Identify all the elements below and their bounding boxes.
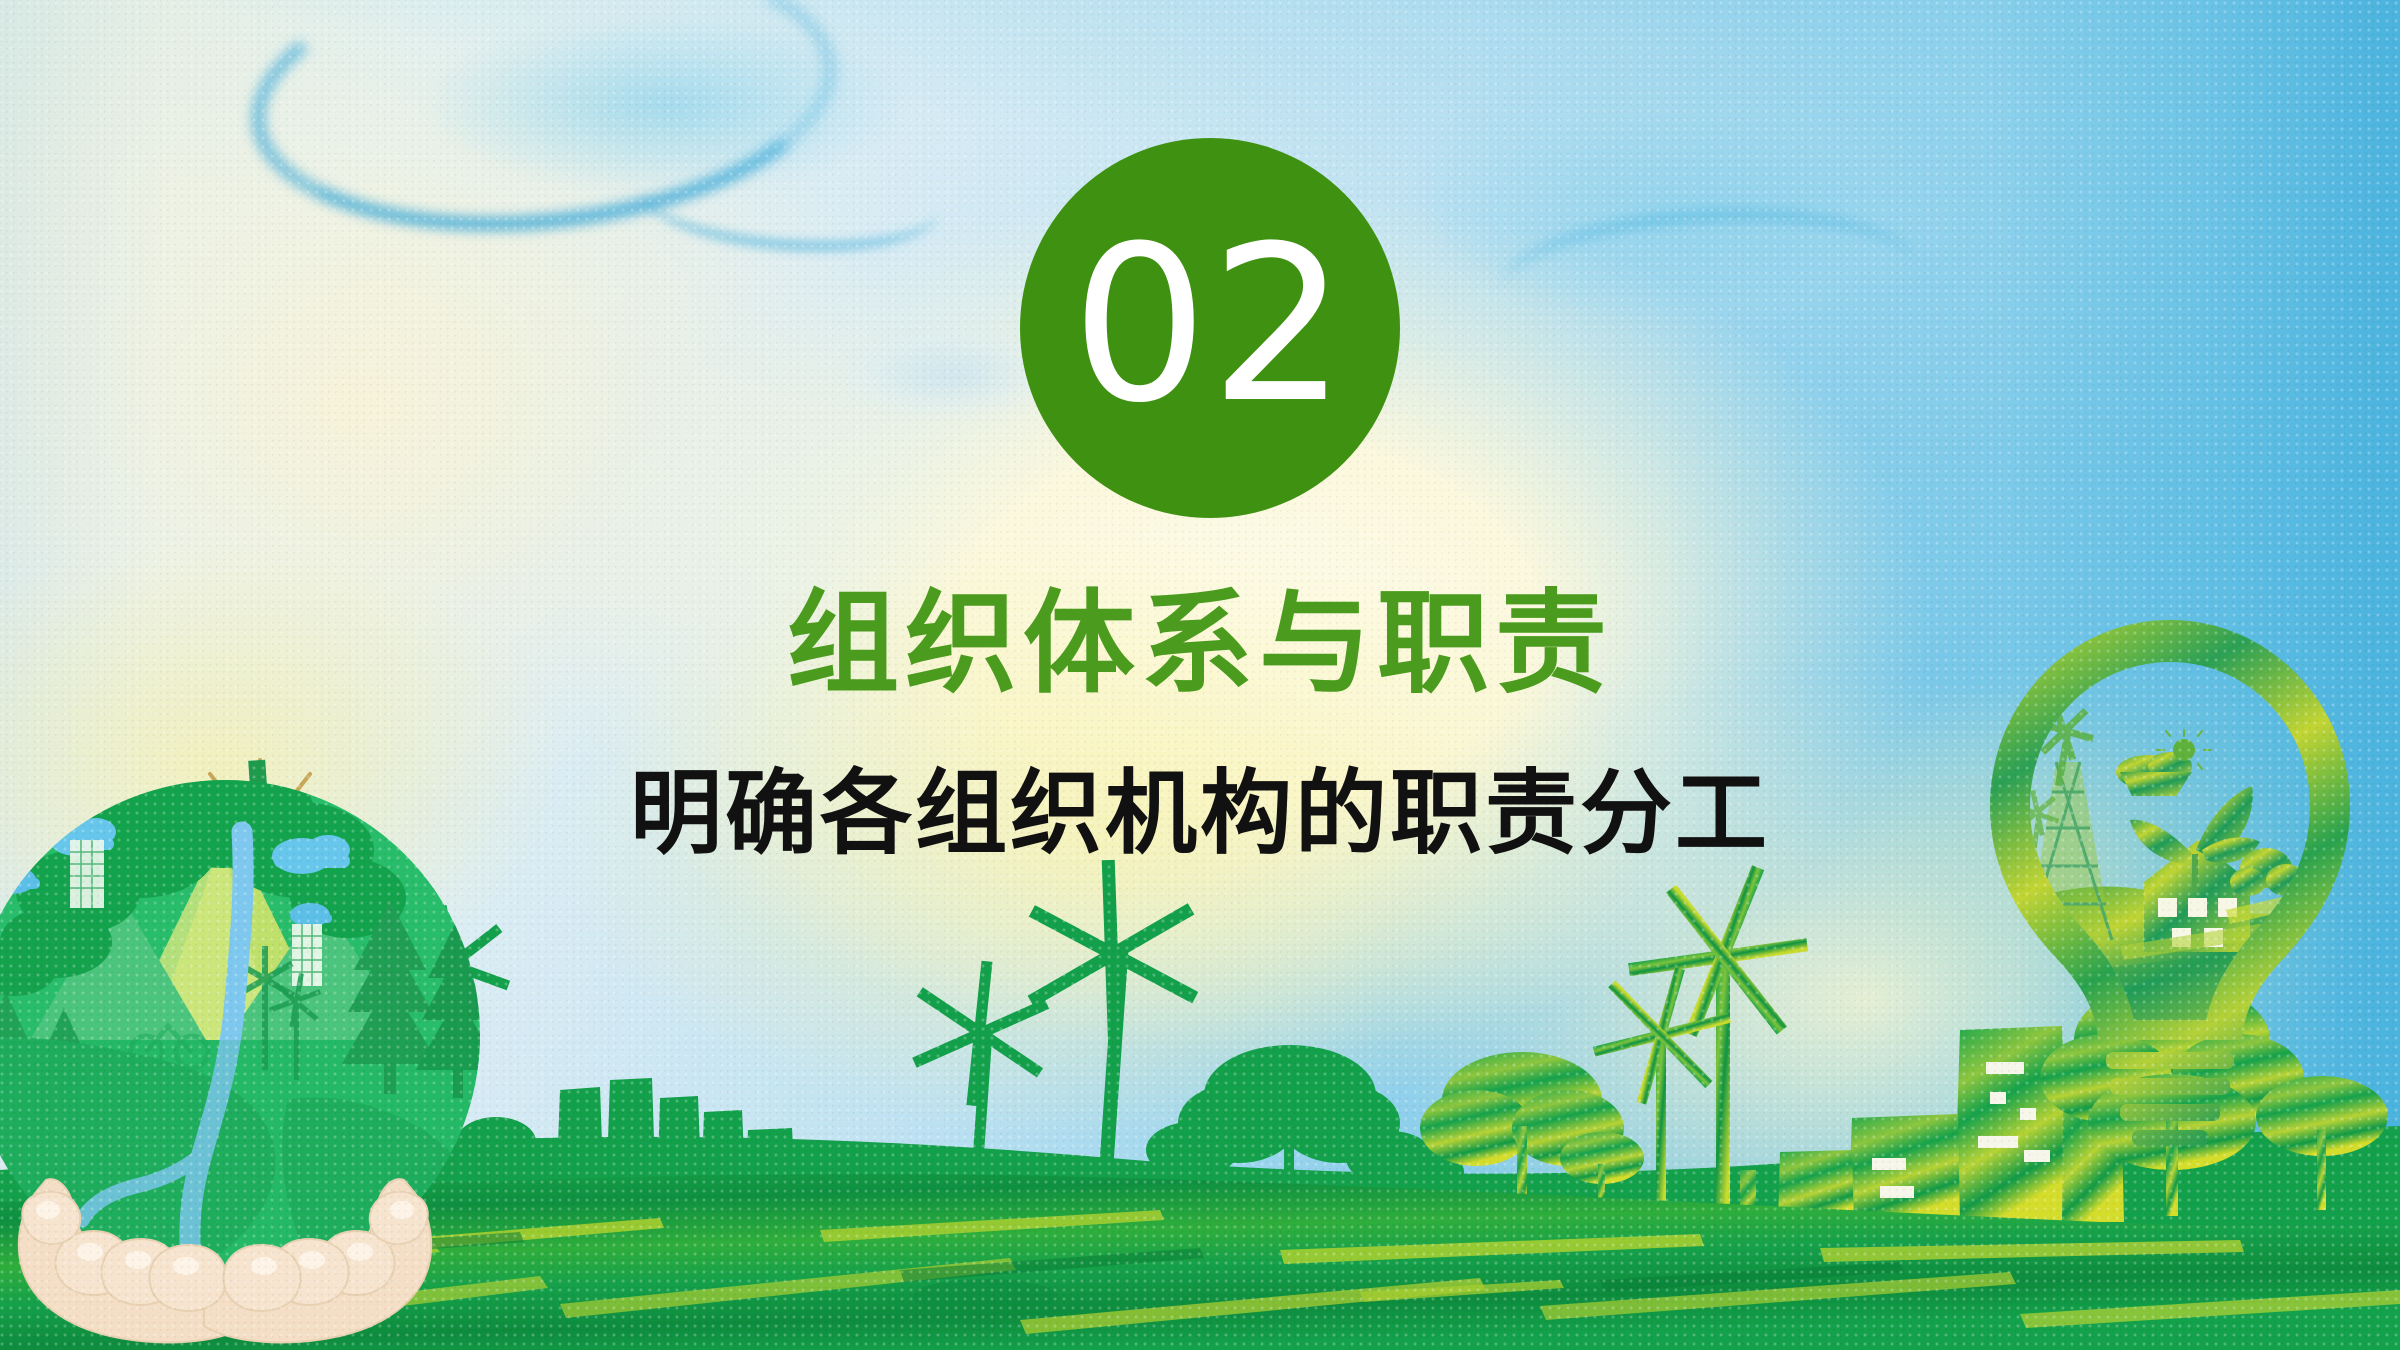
slide-subtitle: 明确各组织机构的职责分工 (0, 768, 2400, 860)
section-number-badge: 02 (1020, 138, 1400, 518)
presentation-slide: 02 组织体系与职责 明确各组织机构的职责分工 (0, 0, 2400, 1350)
section-number-text: 02 (1071, 217, 1349, 432)
slide-title: 组织体系与职责 (0, 588, 2400, 700)
